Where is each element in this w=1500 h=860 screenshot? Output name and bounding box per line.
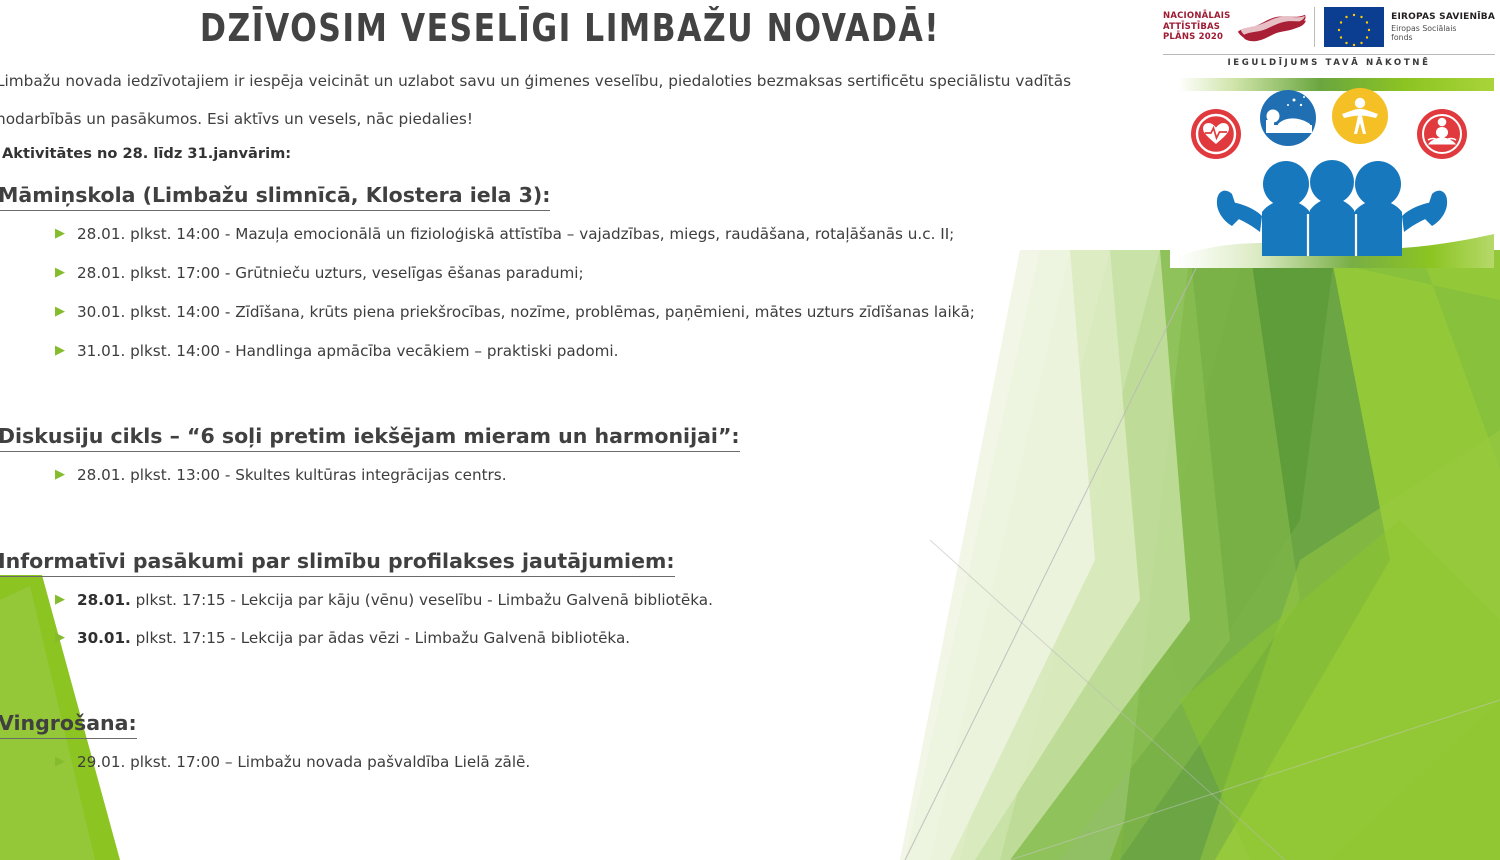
list-item: ▶ 28.01. plkst. 13:00 - Skultes kultūras…	[0, 466, 1140, 505]
list-item-label: 31.01. plkst. 14:00 - Handlinga apmācība…	[77, 342, 618, 360]
list-item: ▶ 30.01. plkst. 17:15 - Lekcija par ādas…	[0, 629, 1140, 667]
list-item-label: 28.01. plkst. 14:00 - Mazuļa emocionālā …	[77, 225, 954, 243]
logo-row: NACIONĀLAIS ATTĪSTĪBAS PLĀNS 2020	[1163, 4, 1495, 50]
activity-person-icon	[1332, 88, 1388, 144]
section-diskusiju-cikls: Diskusiju cikls – “6 soļi pretim iekšēja…	[0, 424, 1140, 505]
investment-slogan: IEGULDĪJUMS TAVĀ NĀKOTNĒ	[1163, 58, 1495, 68]
list-item-label: 30.01. plkst. 17:15 - Lekcija par ādas v…	[77, 629, 630, 647]
list-item-label: 29.01. plkst. 17:00 – Limbažu novada paš…	[77, 753, 530, 771]
funding-logo-block: NACIONĀLAIS ATTĪSTĪBAS PLĀNS 2020	[1163, 4, 1495, 68]
section-bullet-list: ▶ 28.01. plkst. 14:00 - Mazuļa emocionāl…	[0, 225, 1140, 381]
intro-paragraph: Limbažu novada iedzīvotajiem ir iespēja …	[0, 62, 1136, 138]
triangle-bullet-icon: ▶	[55, 631, 77, 644]
yoga-meditation-icon	[1417, 109, 1467, 159]
section-informativi-pasakumi: Informatīvi pasākumi par slimību profila…	[0, 549, 1140, 667]
section-heading: Māmiņskola (Limbažu slimnīcā, Klostera i…	[0, 183, 550, 211]
section-bullet-list: ▶ 29.01. plkst. 17:00 – Limbažu novada p…	[0, 753, 1140, 792]
slide-canvas: NACIONĀLAIS ATTĪSTĪBAS PLĀNS 2020	[0, 0, 1500, 860]
list-item: ▶ 28.01. plkst. 17:00 - Grūtnieču uzturs…	[0, 264, 1140, 303]
health-community-illustration	[1170, 78, 1494, 268]
triangle-bullet-icon: ▶	[55, 227, 77, 240]
list-item-date: 30.01.	[77, 629, 131, 647]
section-bullet-list: ▶ 28.01. plkst. 13:00 - Skultes kultūras…	[0, 466, 1140, 505]
national-development-plan-label: NACIONĀLAIS ATTĪSTĪBAS PLĀNS 2020	[1163, 11, 1231, 42]
sleep-bed-icon	[1260, 90, 1316, 146]
eu-flag-icon	[1324, 7, 1384, 47]
list-item-label: 28.01. plkst. 13:00 - Skultes kultūras i…	[77, 466, 507, 484]
slide-text-content: DZĪVOSIM VESELĪGI LIMBAŽU NOVADĀ! Limbaž…	[0, 0, 1140, 860]
section-heading: Informatīvi pasākumi par slimību profila…	[0, 549, 675, 577]
logo-divider	[1314, 7, 1315, 47]
eu-text-block: EIROPAS SAVIENĪBA Eiropas Sociālais fond…	[1391, 12, 1495, 42]
list-item: ▶ 28.01. plkst. 14:00 - Mazuļa emocionāl…	[0, 225, 1140, 264]
list-item-label: 30.01. plkst. 14:00 - Zīdīšana, krūts pi…	[77, 303, 975, 321]
list-item: ▶ 29.01. plkst. 17:00 – Limbažu novada p…	[0, 753, 1140, 792]
triangle-bullet-icon: ▶	[55, 755, 77, 768]
latvia-map-icon	[1235, 8, 1309, 48]
triangle-bullet-icon: ▶	[55, 593, 77, 606]
activities-subheading: Aktivitātes no 28. līdz 31.janvārim:	[2, 145, 291, 162]
logo-horizontal-rule	[1163, 54, 1495, 55]
eu-subtitle: Eiropas Sociālais fonds	[1391, 24, 1469, 43]
nap-line-3: PLĀNS 2020	[1163, 32, 1231, 42]
list-item: ▶ 28.01. plkst. 17:15 - Lekcija par kāju…	[0, 591, 1140, 629]
eu-stars	[1324, 7, 1384, 47]
section-heading: Vingrošana:	[0, 711, 137, 739]
eu-title: EIROPAS SAVIENĪBA	[1391, 12, 1495, 23]
list-item: ▶ 31.01. plkst. 14:00 - Handlinga apmācī…	[0, 342, 1140, 381]
page-title: DZĪVOSIM VESELĪGI LIMBAŽU NOVADĀ!	[46, 6, 1095, 50]
section-heading: Diskusiju cikls – “6 soļi pretim iekšēja…	[0, 424, 740, 452]
nap-line-2: ATTĪSTĪBAS	[1163, 22, 1231, 32]
triangle-bullet-icon: ▶	[55, 305, 77, 318]
list-item-date: 28.01.	[77, 591, 131, 609]
list-item-label: 28.01. plkst. 17:00 - Grūtnieču uzturs, …	[77, 264, 584, 282]
heart-pulse-icon	[1191, 109, 1241, 159]
section-bullet-list: ▶ 28.01. plkst. 17:15 - Lekcija par kāju…	[0, 591, 1140, 667]
list-item-detail: plkst. 17:15 - Lekcija par kāju (vēnu) v…	[131, 591, 713, 609]
list-item: ▶ 30.01. plkst. 14:00 - Zīdīšana, krūts …	[0, 303, 1140, 342]
list-item-label: 28.01. plkst. 17:15 - Lekcija par kāju (…	[77, 591, 713, 609]
section-maminskola: Māmiņskola (Limbažu slimnīcā, Klostera i…	[0, 183, 1140, 381]
section-vingrosana: Vingrošana: ▶ 29.01. plkst. 17:00 – Limb…	[0, 711, 1140, 792]
list-item-detail: plkst. 17:15 - Lekcija par ādas vēzi - L…	[131, 629, 630, 647]
nap-line-1: NACIONĀLAIS	[1163, 11, 1231, 21]
triangle-bullet-icon: ▶	[55, 344, 77, 357]
triangle-bullet-icon: ▶	[55, 266, 77, 279]
triangle-bullet-icon: ▶	[55, 468, 77, 481]
